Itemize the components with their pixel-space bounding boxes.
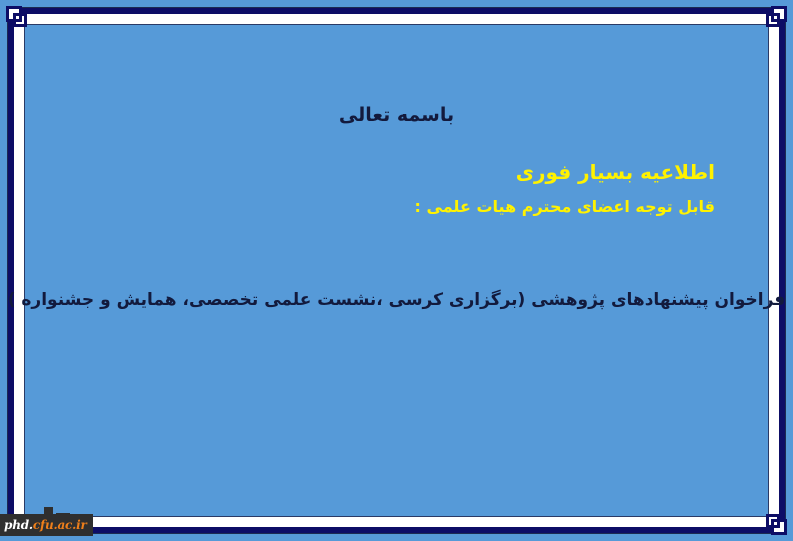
corner-square-outer — [771, 519, 787, 535]
corner-square-inner — [766, 13, 780, 27]
announcement-poster: باسمه تعالی اطلاعیه بسیار فوری قابل توجه… — [0, 0, 793, 541]
basmala-text: باسمه تعالی — [0, 104, 793, 126]
poster-canvas — [25, 25, 768, 516]
announcement-body-line: فراخوان پیشنهادهای پژوهشی (برگزاری کرسی … — [0, 290, 793, 310]
announcement-headline: اطلاعیه بسیار فوری — [516, 160, 715, 184]
watermark-prefix: phd. — [4, 518, 33, 532]
corner-square-outer — [771, 6, 787, 22]
corner-square-outer — [6, 6, 22, 22]
watermark-domain: cfu.ac.ir — [33, 518, 87, 532]
corner-square-inner — [766, 514, 780, 528]
site-watermark: phd.cfu.ac.ir — [0, 514, 93, 536]
audience-subheading: قابل توجه اعضای محترم هیات علمی : — [415, 197, 715, 216]
